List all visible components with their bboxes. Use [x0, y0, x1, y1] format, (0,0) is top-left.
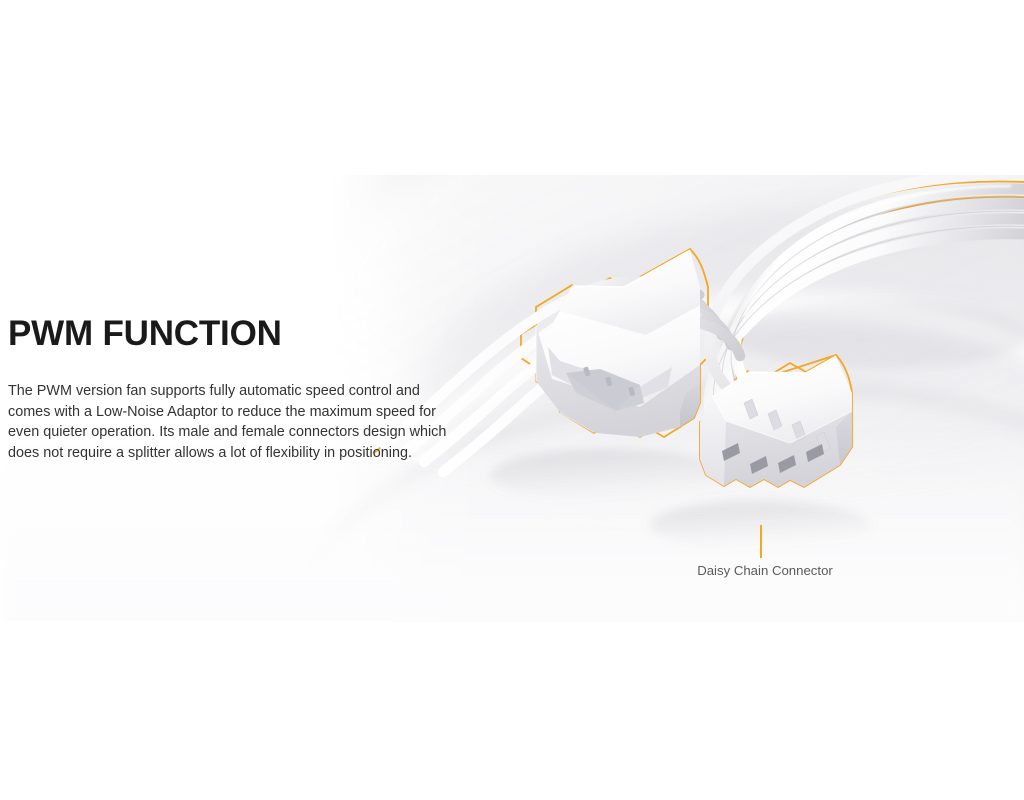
page-title: PWM FUNCTION	[8, 312, 460, 356]
body-copy: The PWM version fan supports fully autom…	[8, 381, 460, 463]
pwm-function-section: PWM FUNCTION The PWM version fan support…	[0, 0, 1024, 800]
copy-block: PWM FUNCTION The PWM version fan support…	[8, 312, 460, 463]
